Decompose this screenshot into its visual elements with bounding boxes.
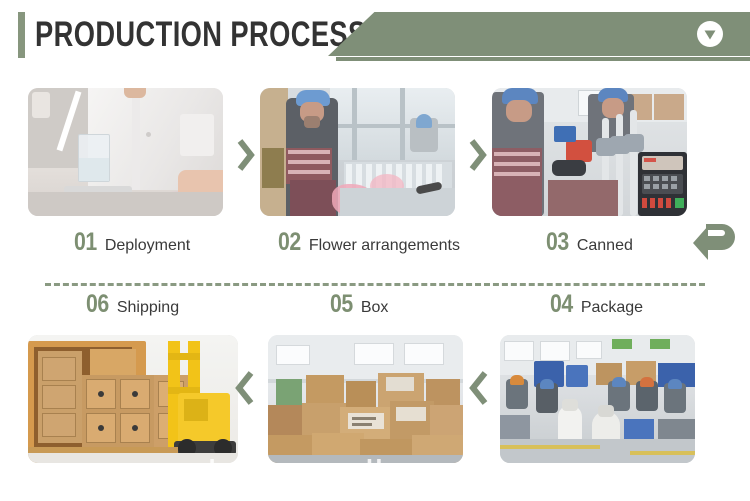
step-04-number: 04	[550, 290, 573, 319]
step-03-label: Canned	[577, 237, 633, 255]
section-divider	[45, 283, 705, 286]
chevron-left-icon	[234, 370, 256, 406]
step-02-photo	[260, 88, 455, 216]
page-title: PRODUCTION PROCESS	[35, 11, 367, 59]
step-01-number: 01	[74, 228, 97, 257]
step-03-caption: 03 Canned	[544, 228, 633, 257]
page-header: PRODUCTION PROCESS	[0, 0, 750, 70]
step-01-photo	[28, 88, 223, 216]
chevron-left-icon	[468, 370, 490, 406]
step-05-caption: 05 Box	[328, 290, 388, 319]
step-04-label: Package	[581, 299, 643, 317]
process-row-bottom: 06 Shipping	[0, 290, 750, 490]
step-02-label: Flower arrangements	[309, 237, 460, 255]
header-accent-bar	[18, 12, 25, 58]
chevron-right-icon	[236, 138, 256, 172]
step-05-label: Box	[361, 299, 389, 317]
process-row-top: 01 Deployment	[0, 88, 750, 278]
step-01-label: Deployment	[105, 237, 190, 255]
chevron-right-icon	[468, 138, 488, 172]
u-turn-arrow-icon	[692, 216, 742, 268]
step-06-photo	[28, 335, 238, 463]
step-05-photo	[268, 335, 463, 463]
step-03-photo	[492, 88, 687, 216]
step-01-caption: 01 Deployment	[72, 228, 190, 257]
production-process-banner: PRODUCTION PROCESS	[0, 0, 750, 501]
step-02-number: 02	[278, 228, 301, 257]
header-green-band	[328, 12, 750, 56]
header-underline-bar	[336, 57, 750, 61]
step-05-number: 05	[330, 290, 353, 319]
step-02-caption: 02 Flower arrangements	[276, 228, 460, 257]
step-06-label: Shipping	[117, 299, 179, 317]
step-04-photo	[500, 335, 695, 463]
step-03-number: 03	[546, 228, 569, 257]
chevron-down-circle-icon[interactable]	[697, 21, 723, 47]
step-04-caption: 04 Package	[548, 290, 643, 319]
step-06-caption: 06 Shipping	[84, 290, 179, 319]
step-06-number: 06	[86, 290, 109, 319]
